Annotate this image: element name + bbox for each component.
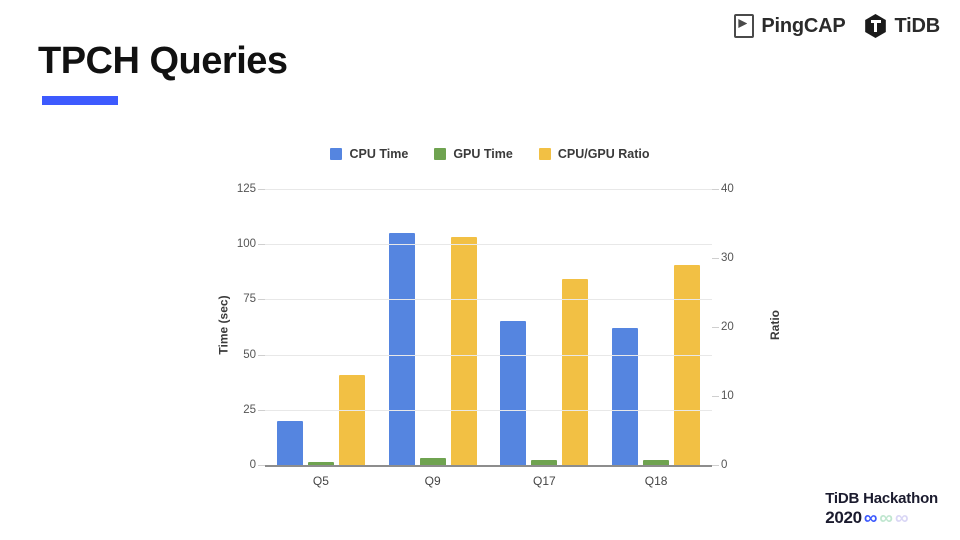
y2-axis-tick-mark xyxy=(712,258,719,259)
pingcap-label: PingCAP xyxy=(761,15,845,38)
gridline xyxy=(265,244,712,245)
y2-axis-tick-label: 40 xyxy=(721,183,734,195)
pingcap-logo-icon xyxy=(734,14,754,38)
legend-swatch-cpu-time xyxy=(330,148,342,160)
y-axis-tick-mark xyxy=(258,244,265,245)
gridline xyxy=(265,410,712,411)
hackathon-title: TiDB Hackathon xyxy=(825,490,938,507)
chart-container: CPU Time GPU Time CPU/GPU Ratio Time (se… xyxy=(190,145,790,505)
title-underline-rule xyxy=(42,96,118,105)
bar-cpu-time-q5[interactable] xyxy=(277,421,303,465)
y2-axis-tick-label: 30 xyxy=(721,252,734,264)
legend-item-cpu-time: CPU Time xyxy=(330,147,408,161)
y2-axis-tick-label: 20 xyxy=(721,321,734,333)
legend-label-gpu-time: GPU Time xyxy=(453,147,513,161)
y-axis-tick-label: 100 xyxy=(237,238,256,250)
gridline xyxy=(265,189,712,190)
y-axis-tick-mark xyxy=(258,410,265,411)
x-axis-tick-label: Q9 xyxy=(377,474,489,488)
brand-bar: PingCAP TiDB xyxy=(734,14,940,38)
bar-groups: Q5Q9Q17Q18 xyxy=(265,189,712,465)
y-axis-tick-label: 25 xyxy=(243,404,256,416)
y-axis-tick-label: 0 xyxy=(250,459,256,471)
hackathon-year: 2020 xyxy=(825,508,862,528)
gridline xyxy=(265,299,712,300)
y-axis-tick-label: 50 xyxy=(243,349,256,361)
infinity-icon-primary: ∞ xyxy=(864,509,878,528)
infinity-icon-tertiary: ∞ xyxy=(895,509,909,528)
chart-legend: CPU Time GPU Time CPU/GPU Ratio xyxy=(190,145,790,163)
plot-grid: Q5Q9Q17Q18 0255075100125010203040 xyxy=(265,189,712,465)
bar-cpu-time-q18[interactable] xyxy=(612,328,638,465)
y2-axis-title: Ratio xyxy=(768,310,782,340)
gridline xyxy=(265,465,712,467)
legend-item-gpu-time: GPU Time xyxy=(434,147,513,161)
bar-group: Q9 xyxy=(377,189,489,465)
legend-label-ratio: CPU/GPU Ratio xyxy=(558,147,650,161)
bar-group: Q17 xyxy=(489,189,601,465)
y-axis-tick-label: 75 xyxy=(243,293,256,305)
bar-cpu-time-q9[interactable] xyxy=(389,233,415,465)
y2-axis-tick-label: 0 xyxy=(721,459,727,471)
bar-group: Q18 xyxy=(600,189,712,465)
legend-swatch-gpu-time xyxy=(434,148,446,160)
page-title: TPCH Queries xyxy=(38,40,288,83)
tidb-logo: TiDB xyxy=(864,14,941,38)
pingcap-logo: PingCAP xyxy=(734,14,845,38)
tidb-logo-icon xyxy=(864,14,888,38)
y2-axis-tick-mark xyxy=(712,396,719,397)
x-axis-tick-label: Q17 xyxy=(489,474,601,488)
bar-cpu-gpu-ratio-q5[interactable] xyxy=(339,375,365,465)
y-axis-tick-mark xyxy=(258,189,265,190)
infinity-icon-secondary: ∞ xyxy=(879,509,893,528)
gridline xyxy=(265,355,712,356)
y-axis-tick-mark xyxy=(258,465,265,466)
y2-axis-tick-mark xyxy=(712,465,719,466)
x-axis-tick-label: Q18 xyxy=(600,474,712,488)
bar-cpu-gpu-ratio-q9[interactable] xyxy=(451,237,477,465)
bar-gpu-time-q9[interactable] xyxy=(420,458,446,465)
bar-cpu-gpu-ratio-q17[interactable] xyxy=(562,279,588,465)
y-axis-tick-mark xyxy=(258,355,265,356)
y-axis-tick-mark xyxy=(258,299,265,300)
legend-label-cpu-time: CPU Time xyxy=(349,147,408,161)
bar-group: Q5 xyxy=(265,189,377,465)
legend-item-ratio: CPU/GPU Ratio xyxy=(539,147,650,161)
legend-swatch-ratio xyxy=(539,148,551,160)
y-axis-title: Time (sec) xyxy=(217,295,231,354)
tidb-label: TiDB xyxy=(895,15,941,38)
hackathon-logo: TiDB Hackathon 2020 ∞ ∞ ∞ xyxy=(825,490,938,528)
bar-cpu-gpu-ratio-q18[interactable] xyxy=(674,265,700,465)
y2-axis-tick-mark xyxy=(712,189,719,190)
y2-axis-tick-label: 10 xyxy=(721,390,734,402)
x-axis-tick-label: Q5 xyxy=(265,474,377,488)
hackathon-year-row: 2020 ∞ ∞ ∞ xyxy=(825,508,938,528)
y-axis-tick-label: 125 xyxy=(237,183,256,195)
plot-area: Time (sec) Ratio Q5Q9Q17Q18 025507510012… xyxy=(190,175,790,475)
y2-axis-tick-mark xyxy=(712,327,719,328)
bar-cpu-time-q17[interactable] xyxy=(500,321,526,465)
